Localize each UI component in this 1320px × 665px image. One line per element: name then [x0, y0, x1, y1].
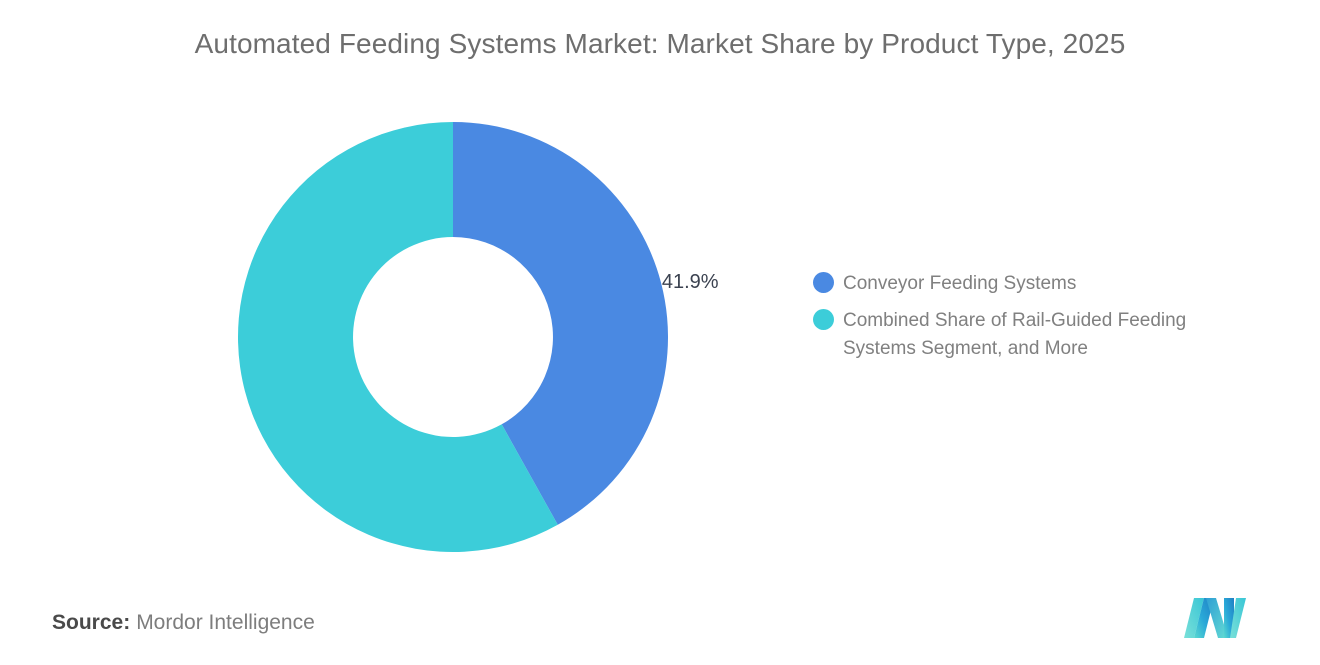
donut-chart: 41.9% [238, 122, 668, 552]
mordor-intelligence-logo [1184, 598, 1250, 638]
source-label: Source: [52, 611, 130, 634]
legend-item-conveyor-feeding-systems[interactable]: Conveyor Feeding Systems [813, 270, 1283, 298]
mi-monogram-icon [1184, 598, 1250, 638]
legend-marker-icon-combined [813, 309, 834, 330]
legend-marker-icon-conveyor [813, 272, 834, 293]
legend-label-combined: Combined Share of Rail-Guided Feeding Sy… [843, 307, 1263, 363]
legend-label-conveyor: Conveyor Feeding Systems [843, 270, 1076, 298]
source-attribution: Source:Mordor Intelligence [52, 611, 315, 635]
chart-legend: Conveyor Feeding Systems Combined Share … [813, 270, 1283, 372]
donut-chart-svg [238, 122, 668, 552]
source-value: Mordor Intelligence [136, 611, 315, 634]
legend-item-combined-share[interactable]: Combined Share of Rail-Guided Feeding Sy… [813, 307, 1283, 363]
page-title: Automated Feeding Systems Market: Market… [0, 28, 1320, 60]
